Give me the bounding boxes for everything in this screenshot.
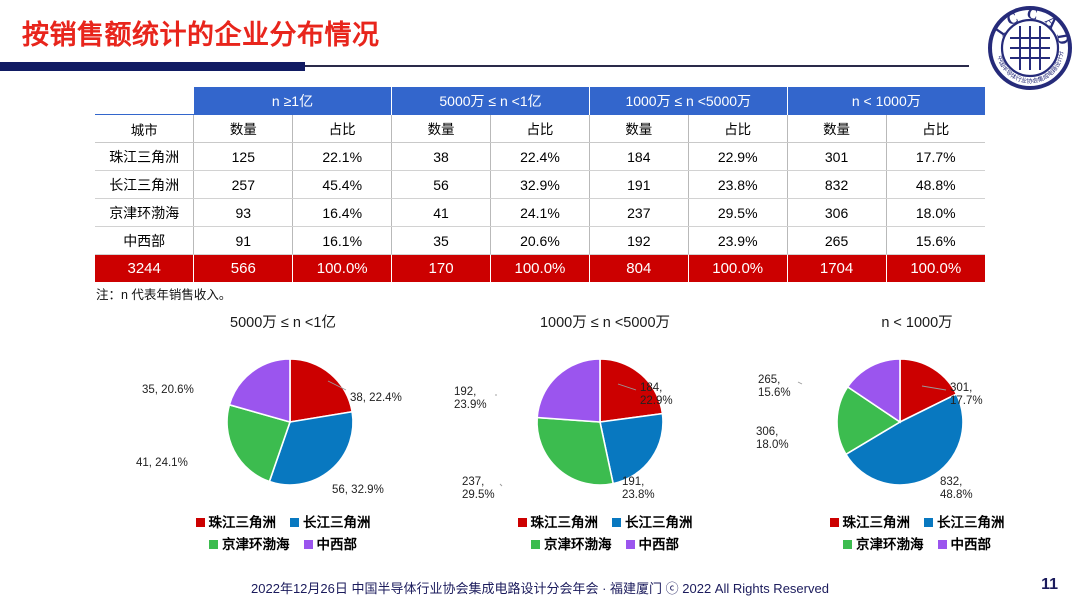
row-count: 56 — [392, 171, 491, 199]
pie-chart-1-title: 5000万 ≤ n <1亿 — [118, 312, 448, 334]
pie-slices — [118, 334, 448, 509]
sub-header-pct-4: 占比 — [886, 115, 985, 143]
legend-swatch-icon — [304, 540, 313, 549]
pie-slice-label: 35, 20.6% — [142, 384, 194, 397]
total-pct-2: 100.0% — [491, 255, 590, 283]
legend-item[interactable]: 中西部 — [938, 534, 992, 556]
iccad-logo-icon: ICCAD 中国半导体行业协会集成电路设计分会 — [988, 6, 1072, 90]
legend-item[interactable]: 珠江三角洲 — [830, 512, 911, 534]
total-label: 3244 — [95, 255, 194, 283]
row-percent: 32.9% — [491, 171, 590, 199]
pie-slice-label: 237, 29.5% — [462, 476, 495, 502]
page-number: 11 — [1041, 576, 1058, 594]
pie-slice-label: 56, 32.9% — [332, 484, 384, 497]
pie-slice-label: 184, 22.9% — [640, 382, 673, 408]
legend-swatch-icon — [830, 518, 839, 527]
total-pct-4: 100.0% — [886, 255, 985, 283]
row-count: 832 — [787, 171, 886, 199]
row-percent: 22.1% — [293, 143, 392, 171]
row-count: 301 — [787, 143, 886, 171]
pie-chart-3-title: n < 1000万 — [752, 312, 1080, 334]
pie-chart-3-legend: 珠江三角洲长江三角洲京津环渤海中西部 — [752, 512, 1080, 556]
total-count-4: 1704 — [787, 255, 886, 283]
pie-leader-line — [500, 484, 502, 486]
legend-label: 长江三角洲 — [625, 515, 693, 530]
row-count: 265 — [787, 227, 886, 255]
pie-slice-label: 301, 17.7% — [950, 382, 983, 408]
pie-slice-label: 306, 18.0% — [756, 426, 789, 452]
group-header-cell-0 — [95, 87, 194, 115]
row-count: 91 — [194, 227, 293, 255]
legend-item[interactable]: 中西部 — [304, 534, 358, 556]
title-divider-thin — [305, 65, 969, 67]
row-count: 184 — [589, 143, 688, 171]
row-percent: 22.4% — [491, 143, 590, 171]
row-count: 191 — [589, 171, 688, 199]
legend-row: 京津环渤海中西部 — [118, 534, 448, 556]
group-header-cell-3: 1000万 ≤ n <5000万 — [589, 87, 787, 115]
row-percent: 24.1% — [491, 199, 590, 227]
sub-header-count-1: 数量 — [194, 115, 293, 143]
title-divider-thick — [0, 62, 305, 71]
sub-header-pct-2: 占比 — [491, 115, 590, 143]
table-sub-header-row: 城市 数量 占比 数量 占比 数量 占比 数量 占比 — [95, 115, 985, 143]
legend-swatch-icon — [612, 518, 621, 527]
sub-header-count-2: 数量 — [392, 115, 491, 143]
enterprise-distribution-table: n ≥1亿 5000万 ≤ n <1亿 1000万 ≤ n <5000万 n <… — [95, 87, 985, 282]
sub-header-count-4: 数量 — [787, 115, 886, 143]
legend-swatch-icon — [209, 540, 218, 549]
legend-label: 中西部 — [951, 537, 992, 552]
legend-swatch-icon — [196, 518, 205, 527]
table-total-row: 3244 566 100.0% 170 100.0% 804 100.0% 17… — [95, 255, 985, 283]
table-note: 注：n 代表年销售收入。 — [96, 284, 231, 303]
pie-leader-line — [798, 382, 802, 384]
pie-slice-label: 41, 24.1% — [136, 457, 188, 470]
table-row: 京津环渤海9316.4%4124.1%23729.5%30618.0% — [95, 199, 985, 227]
legend-row: 珠江三角洲长江三角洲 — [752, 512, 1080, 534]
row-city: 中西部 — [95, 227, 194, 255]
legend-swatch-icon — [290, 518, 299, 527]
legend-label: 珠江三角洲 — [209, 515, 277, 530]
legend-swatch-icon — [531, 540, 540, 549]
legend-label: 长江三角洲 — [937, 515, 1005, 530]
pie-chart-2-title: 1000万 ≤ n <5000万 — [440, 312, 770, 334]
legend-swatch-icon — [938, 540, 947, 549]
row-percent: 20.6% — [491, 227, 590, 255]
table-group-header-row: n ≥1亿 5000万 ≤ n <1亿 1000万 ≤ n <5000万 n <… — [95, 87, 985, 115]
row-count: 257 — [194, 171, 293, 199]
page-title: 按销售额统计的企业分布情况 — [22, 13, 380, 52]
table-row: 长江三角洲25745.4%5632.9%19123.8%83248.8% — [95, 171, 985, 199]
legend-label: 京津环渤海 — [222, 537, 290, 552]
table-body: 珠江三角洲12522.1%3822.4%18422.9%30117.7%长江三角… — [95, 143, 985, 255]
legend-item[interactable]: 长江三角洲 — [612, 512, 693, 534]
pie-slice-label: 191, 23.8% — [622, 476, 655, 502]
legend-label: 中西部 — [639, 537, 680, 552]
legend-swatch-icon — [626, 540, 635, 549]
sub-header-count-3: 数量 — [589, 115, 688, 143]
row-percent: 16.1% — [293, 227, 392, 255]
legend-item[interactable]: 京津环渤海 — [209, 534, 290, 556]
row-count: 41 — [392, 199, 491, 227]
legend-row: 珠江三角洲长江三角洲 — [118, 512, 448, 534]
group-header-cell-2: 5000万 ≤ n <1亿 — [392, 87, 590, 115]
row-city: 珠江三角洲 — [95, 143, 194, 171]
row-count: 125 — [194, 143, 293, 171]
table-row: 珠江三角洲12522.1%3822.4%18422.9%30117.7% — [95, 143, 985, 171]
row-count: 93 — [194, 199, 293, 227]
pie-chart-2-legend: 珠江三角洲长江三角洲京津环渤海中西部 — [440, 512, 770, 556]
pie-slice-label: 832, 48.8% — [940, 476, 973, 502]
total-count-1: 566 — [194, 255, 293, 283]
row-percent: 17.7% — [886, 143, 985, 171]
sub-header-pct-3: 占比 — [688, 115, 787, 143]
pie-slices — [752, 334, 1080, 509]
row-percent: 23.8% — [688, 171, 787, 199]
legend-row: 珠江三角洲长江三角洲 — [440, 512, 770, 534]
legend-item[interactable]: 珠江三角洲 — [518, 512, 599, 534]
legend-label: 珠江三角洲 — [531, 515, 599, 530]
footer-text: 2022年12月26日 中国半导体行业协会集成电路设计分会年会 · 福建厦门 ⓒ… — [0, 578, 1080, 597]
group-header-cell-4: n < 1000万 — [787, 87, 985, 115]
legend-label: 珠江三角洲 — [843, 515, 911, 530]
pie-chart-1-legend: 珠江三角洲长江三角洲京津环渤海中西部 — [118, 512, 448, 556]
total-pct-3: 100.0% — [688, 255, 787, 283]
pie-chart-3-plot: 301, 17.7%832, 48.8%306, 18.0%265, 15.6% — [752, 334, 1080, 509]
row-count: 35 — [392, 227, 491, 255]
sub-header-pct-1: 占比 — [293, 115, 392, 143]
table-row: 中西部9116.1%3520.6%19223.9%26515.6% — [95, 227, 985, 255]
legend-row: 京津环渤海中西部 — [752, 534, 1080, 556]
legend-item[interactable]: 京津环渤海 — [531, 534, 612, 556]
total-count-2: 170 — [392, 255, 491, 283]
row-count: 192 — [589, 227, 688, 255]
pie-slice-label: 38, 22.4% — [350, 392, 402, 405]
row-percent: 15.6% — [886, 227, 985, 255]
pie-slice — [537, 418, 613, 485]
legend-label: 京津环渤海 — [544, 537, 612, 552]
sub-header-city: 城市 — [95, 115, 194, 143]
row-count: 237 — [589, 199, 688, 227]
legend-item[interactable]: 京津环渤海 — [843, 534, 924, 556]
row-percent: 29.5% — [688, 199, 787, 227]
row-count: 306 — [787, 199, 886, 227]
legend-swatch-icon — [518, 518, 527, 527]
row-percent: 16.4% — [293, 199, 392, 227]
row-percent: 18.0% — [886, 199, 985, 227]
row-percent: 48.8% — [886, 171, 985, 199]
pie-chart-2-plot: 184, 22.9%191, 23.8%237, 29.5%192, 23.9% — [440, 334, 770, 509]
row-percent: 45.4% — [293, 171, 392, 199]
legend-label: 长江三角洲 — [303, 515, 371, 530]
row-percent: 22.9% — [688, 143, 787, 171]
pie-slice-label: 192, 23.9% — [454, 386, 487, 412]
legend-label: 中西部 — [317, 537, 358, 552]
row-percent: 23.9% — [688, 227, 787, 255]
group-header-cell-1: n ≥1亿 — [194, 87, 392, 115]
legend-label: 京津环渤海 — [856, 537, 924, 552]
legend-item[interactable]: 珠江三角洲 — [196, 512, 277, 534]
legend-swatch-icon — [924, 518, 933, 527]
total-count-3: 804 — [589, 255, 688, 283]
row-count: 38 — [392, 143, 491, 171]
row-city: 长江三角洲 — [95, 171, 194, 199]
legend-item[interactable]: 长江三角洲 — [924, 512, 1005, 534]
pie-slice — [537, 359, 600, 422]
legend-row: 京津环渤海中西部 — [440, 534, 770, 556]
legend-swatch-icon — [843, 540, 852, 549]
row-city: 京津环渤海 — [95, 199, 194, 227]
total-pct-1: 100.0% — [293, 255, 392, 283]
legend-item[interactable]: 长江三角洲 — [290, 512, 371, 534]
pie-chart-1-plot: 38, 22.4%56, 32.9%41, 24.1%35, 20.6% — [118, 334, 448, 509]
pie-slice-label: 265, 15.6% — [758, 374, 791, 400]
legend-item[interactable]: 中西部 — [626, 534, 680, 556]
